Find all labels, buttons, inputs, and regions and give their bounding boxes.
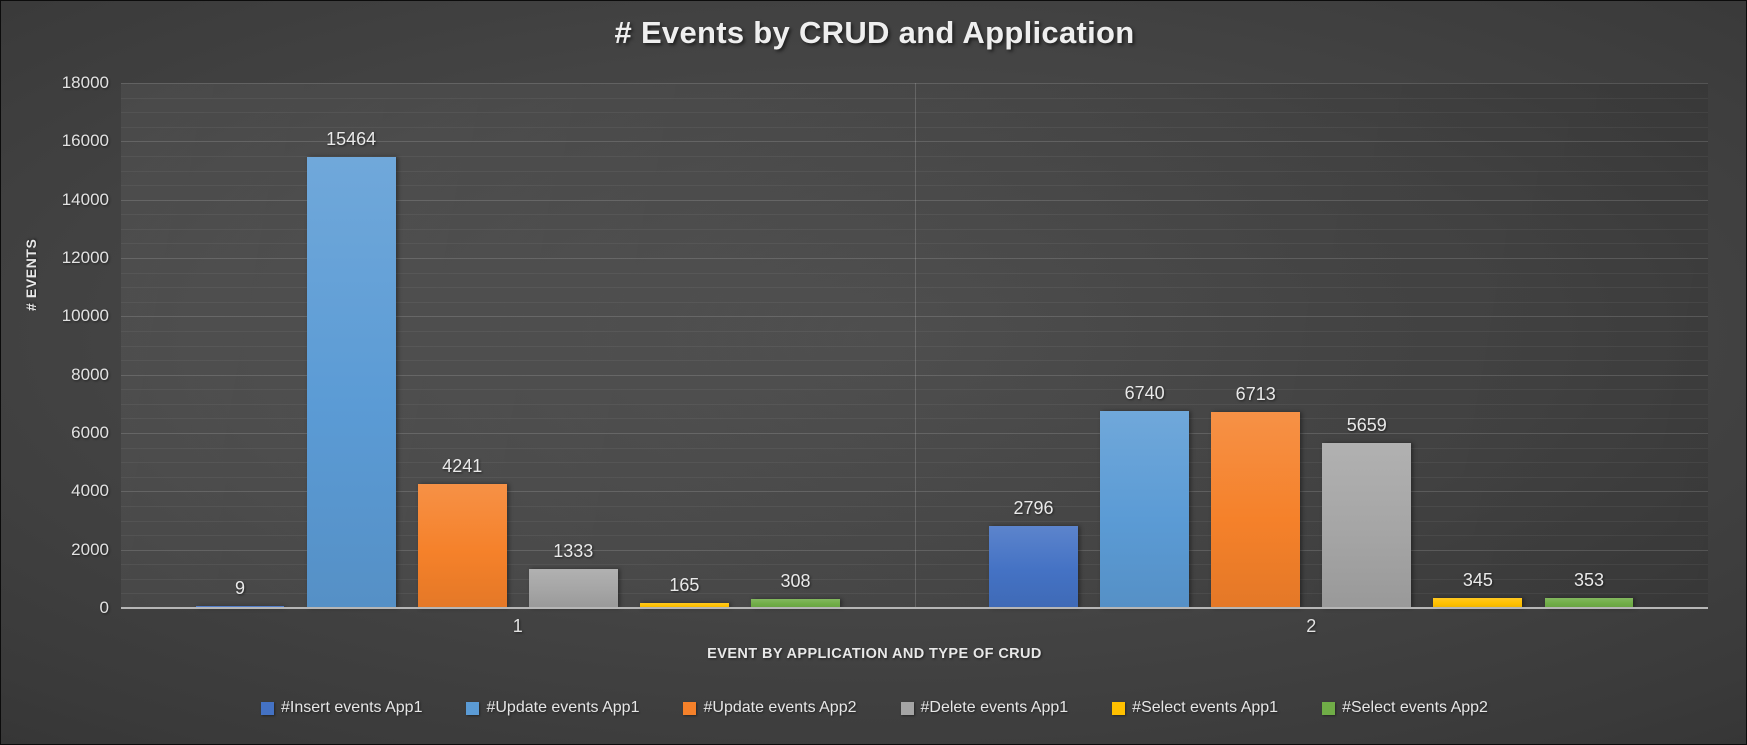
bar-value-label: 353 (1574, 570, 1604, 591)
bar-value-label: 6740 (1125, 383, 1165, 404)
legend-item[interactable]: #Select events App1 (1112, 699, 1278, 717)
y-axis-tick-label: 18000 (9, 73, 109, 93)
y-axis-tick-label: 10000 (9, 306, 109, 326)
legend-swatch-icon (261, 702, 274, 715)
bar[interactable] (989, 526, 1078, 608)
bar-value-label: 4241 (442, 456, 482, 477)
y-axis-tick-label: 2000 (9, 540, 109, 560)
legend-item[interactable]: #Select events App2 (1322, 699, 1488, 717)
bar[interactable] (1211, 412, 1300, 608)
legend-item-label: #Select events App2 (1342, 699, 1488, 717)
bar-value-label: 9 (235, 578, 245, 599)
legend-item-label: #Update events App1 (486, 699, 639, 717)
bar-value-label: 5659 (1347, 415, 1387, 436)
bar-value-label: 6713 (1236, 384, 1276, 405)
legend-swatch-icon (683, 702, 696, 715)
y-axis-tick-label: 6000 (9, 423, 109, 443)
legend-item-label: #Update events App2 (703, 699, 856, 717)
x-axis-line (121, 607, 1708, 609)
legend-swatch-icon (1112, 702, 1125, 715)
legend-item-label: #Select events App1 (1132, 699, 1278, 717)
legend-item[interactable]: #Update events App2 (683, 699, 856, 717)
legend-swatch-icon (901, 702, 914, 715)
y-axis-tick-label: 12000 (9, 248, 109, 268)
legend-item[interactable]: #Insert events App1 (261, 699, 422, 717)
legend-swatch-icon (1322, 702, 1335, 715)
y-axis-tick-label: 16000 (9, 131, 109, 151)
chart-container: # Events by CRUD and Application # EVENT… (0, 0, 1747, 745)
legend-item-label: #Delete events App1 (921, 699, 1069, 717)
legend-item[interactable]: #Update events App1 (466, 699, 639, 717)
bar-value-label: 15464 (326, 129, 376, 150)
x-axis-tick-label: 1 (513, 616, 523, 637)
bar[interactable] (1100, 411, 1189, 608)
bar-value-label: 165 (669, 575, 699, 596)
bar[interactable] (307, 157, 396, 608)
y-axis-tick-label: 4000 (9, 481, 109, 501)
legend-item-label: #Insert events App1 (281, 699, 422, 717)
bar[interactable] (1322, 443, 1411, 608)
y-axis-tick-label: 8000 (9, 365, 109, 385)
y-axis-tick-label: 0 (9, 598, 109, 618)
bar[interactable] (418, 484, 507, 608)
bar-value-label: 345 (1463, 570, 1493, 591)
chart-legend: #Insert events App1#Update events App1#U… (1, 699, 1747, 717)
legend-item[interactable]: #Delete events App1 (901, 699, 1069, 717)
plot-area: 0200040006000800010000120001400016000180… (121, 83, 1708, 608)
x-axis-tick-label: 2 (1306, 616, 1316, 637)
x-axis-title: EVENT BY APPLICATION AND TYPE OF CRUD (1, 646, 1747, 662)
legend-swatch-icon (466, 702, 479, 715)
bar-value-label: 1333 (553, 541, 593, 562)
bar-value-label: 308 (780, 571, 810, 592)
chart-title: # Events by CRUD and Application (1, 15, 1747, 51)
bar[interactable] (529, 569, 618, 608)
y-axis-tick-label: 14000 (9, 190, 109, 210)
bar-value-label: 2796 (1013, 498, 1053, 519)
